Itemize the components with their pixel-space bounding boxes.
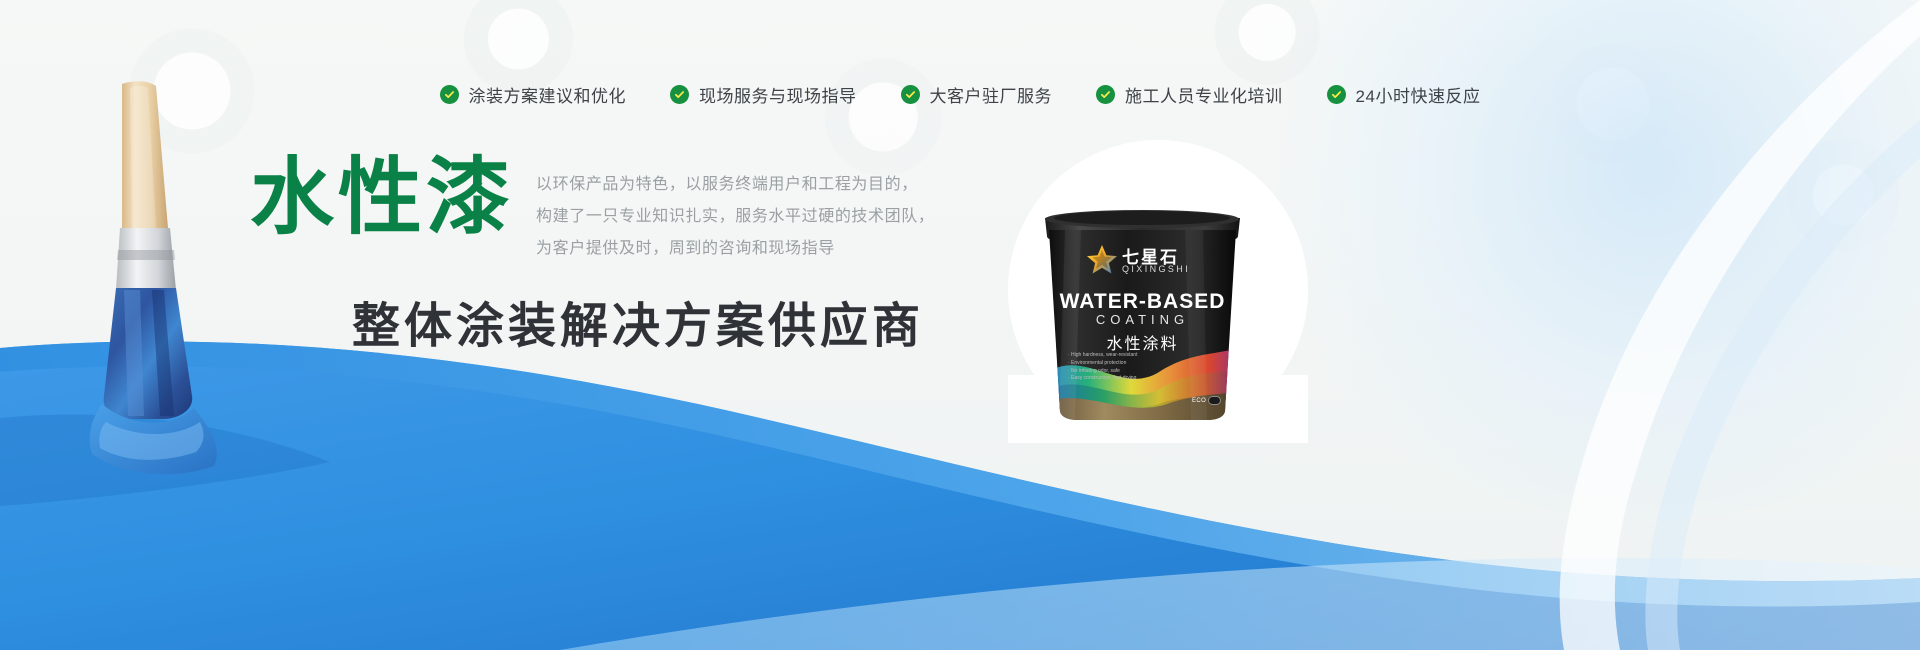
hero-subtitle: 整体涂装解决方案供应商 [352,286,924,356]
paint-brush-icon [44,78,264,478]
feature-label: 大客户驻厂服务 [930,82,1053,107]
hero-banner: 涂装方案建议和优化 现场服务与现场指导 大客户驻厂服务 施工人员专业化培训 24 [0,0,1920,650]
eco-badge: ECO [1192,396,1221,405]
product-fine-print-line: · Easy construction, fast drying [1068,375,1137,383]
product-fine-print-line: · Environmental protection [1068,360,1137,368]
hero-description: 以环保产品为特色，以服务终端用户和工程为目的， 构建了一只专业知识扎实，服务水平… [536,155,934,265]
check-circle-icon [901,85,920,104]
feature-list: 涂装方案建议和优化 现场服务与现场指导 大客户驻厂服务 施工人员专业化培训 24 [0,82,1920,107]
page-title: 水性漆 [250,155,514,239]
product-subtitle-en: COATING [1035,312,1250,327]
product-fine-print: · High hardness, wear-resistant · Enviro… [1068,352,1137,383]
hero-description-line: 以环保产品为特色，以服务终端用户和工程为目的， [536,169,934,201]
hero-description-line: 构建了一只专业知识扎实，服务水平过硬的技术团队， [536,201,934,233]
product-brand-en: QIXINGSHI [1122,264,1190,274]
check-circle-icon [440,85,459,104]
eco-badge-label: ECO [1192,398,1206,404]
product-fine-print-line: · High hardness, wear-resistant [1068,352,1137,360]
star-logo-icon [1085,243,1119,277]
product-title-cn: 水性涂料 [1035,330,1250,354]
hero-description-line: 为客户提供及时，周到的咨询和现场指导 [536,233,934,265]
feature-label: 现场服务与现场指导 [699,82,857,107]
feature-label: 施工人员专业化培训 [1125,82,1283,107]
feature-item[interactable]: 涂装方案建议和优化 [440,82,627,107]
feature-item[interactable]: 现场服务与现场指导 [670,82,857,107]
product-fine-print-line: · No irritating odor, safe [1068,368,1137,376]
feature-item[interactable]: 大客户驻厂服务 [901,82,1053,107]
eco-badge-icon [1208,396,1221,405]
product-title-en: WATER-BASED [1035,290,1250,314]
check-circle-icon [1096,85,1115,104]
feature-label: 涂装方案建议和优化 [469,82,627,107]
check-circle-icon [670,85,689,104]
feature-item[interactable]: 施工人员专业化培训 [1096,82,1283,107]
feature-label: 24小时快速反应 [1356,82,1481,107]
feature-item[interactable]: 24小时快速反应 [1327,82,1481,107]
check-circle-icon [1327,85,1346,104]
hero-headline-row: 水性漆 以环保产品为特色，以服务终端用户和工程为目的， 构建了一只专业知识扎实，… [250,155,934,265]
